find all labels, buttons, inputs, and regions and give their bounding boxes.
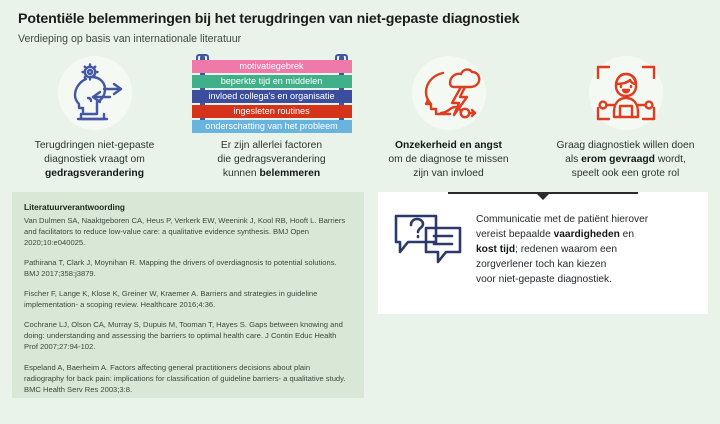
communication-text: Communicatie met de patiënt hieroververe… <box>476 208 648 287</box>
literature-reference: Cochrane LJ, Olson CA, Murray S, Dupuis … <box>24 319 352 352</box>
column-behaviour-change: Terugdringen niet-gepastediagnostiek vra… <box>6 54 183 181</box>
fence-barrier-icon: motivatiegebrek beperkte tijd en middele… <box>188 54 356 132</box>
barrier-bar: invloed collega's en organisatie <box>192 90 352 103</box>
head-storm-cloud-lightning-icon <box>403 54 495 132</box>
column-caption: Terugdringen niet-gepastediagnostiek vra… <box>35 139 155 181</box>
pointer-triangle-icon <box>537 194 549 200</box>
literature-box: Literatuurverantwoording Van Dulmen SA, … <box>12 192 364 398</box>
literature-title: Literatuurverantwoording <box>24 202 352 212</box>
head-gear-arrows-icon <box>49 54 141 132</box>
page-subtitle: Verdieping op basis van internationale l… <box>18 33 702 46</box>
header: Potentiële belemmeringen bij het terugdr… <box>0 0 720 46</box>
literature-reference: Van Dulmen SA, Naaktgeboren CA, Heus P, … <box>24 215 352 248</box>
column-caption: Graag diagnostiek willen doenals erom ge… <box>557 139 695 181</box>
communication-panel: Communicatie met de patiënt hieroververe… <box>378 192 708 314</box>
bottom-row: Literatuurverantwoording Van Dulmen SA, … <box>0 192 720 398</box>
column-uncertainty-fear: Onzekerheid en angstom de diagnose te mi… <box>360 54 537 181</box>
column-patient-request: Graag diagnostiek willen doenals erom ge… <box>537 54 714 181</box>
barrier-bar: beperkte tijd en middelen <box>192 75 352 88</box>
literature-reference: Pathirana T, Clark J, Moynihan R. Mappin… <box>24 257 352 279</box>
barrier-bar: onderschatting van het probleem <box>192 120 352 133</box>
page-title: Potentiële belemmeringen bij het terugdr… <box>18 11 702 28</box>
icon-columns: Terugdringen niet-gepastediagnostiek vra… <box>0 54 720 181</box>
fence: motivatiegebrek beperkte tijd en middele… <box>190 54 354 132</box>
infographic-page: Potentiële belemmeringen bij het terugdr… <box>0 0 720 424</box>
person-in-focus-frame-icon <box>580 54 672 132</box>
barrier-bar: ingesleten routines <box>192 105 352 118</box>
column-caption: Er zijn allerlei factorendie gedragsvera… <box>217 139 325 181</box>
speech-bubbles-question-icon <box>392 208 464 275</box>
literature-reference: Fischer F, Lange K, Klose K, Greiner W, … <box>24 288 352 310</box>
column-caption: Onzekerheid en angstom de diagnose te mi… <box>388 139 508 181</box>
barrier-bar: motivatiegebrek <box>192 60 352 73</box>
literature-reference: Espeland A, Baerheim A. Factors affectin… <box>24 362 352 395</box>
column-barriers-fence: motivatiegebrek beperkte tijd en middele… <box>183 54 360 181</box>
